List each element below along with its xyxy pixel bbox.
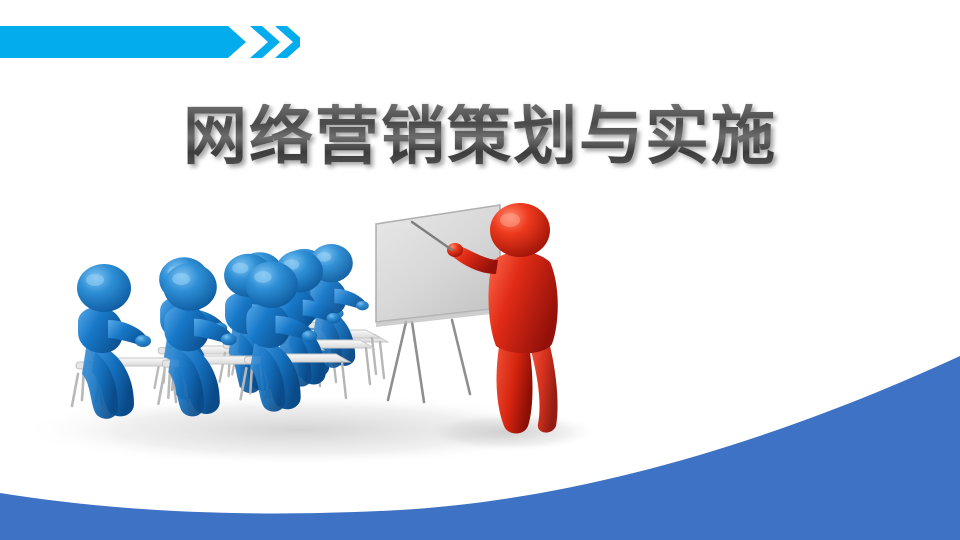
presenter-torso — [489, 252, 558, 354]
whiteboard-easel — [376, 205, 500, 402]
presenter-head — [490, 203, 550, 257]
presenter-legs — [497, 340, 533, 434]
banner-bar-shape — [0, 26, 246, 58]
easel-legs — [388, 320, 470, 402]
slide-title: 网络营销策划与实施 — [183, 104, 777, 171]
classroom-illustration — [0, 180, 960, 470]
slide-title-container: 网络营销策划与实施 网络营销策划与实施 — [0, 104, 960, 171]
chevron-icon-1 — [250, 26, 280, 58]
chevron-icon-2 — [275, 26, 300, 58]
top-decorative-banner — [0, 26, 300, 58]
slide-canvas: 网络营销策划与实施 网络营销策划与实施 — [0, 0, 960, 540]
